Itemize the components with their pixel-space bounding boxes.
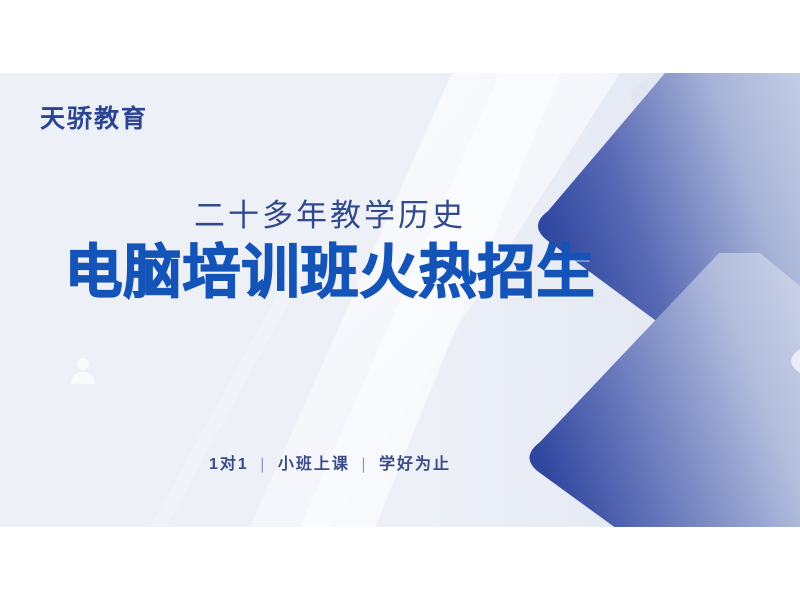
headline-block: 二十多年教学历史 电脑培训班火热招生: [0, 198, 660, 304]
tagline-separator-1: |: [255, 456, 271, 473]
main-headline: 电脑培训班火热招生: [0, 241, 660, 305]
brand-logo-text: 天骄教育: [40, 107, 148, 132]
tagline-item-2: 小班上课: [278, 456, 350, 473]
user-icon: [66, 353, 100, 387]
tagline-separator-2: |: [356, 456, 372, 473]
tagline-item-3: 学好为止: [379, 456, 451, 473]
subheadline: 二十多年教学历史: [0, 198, 660, 235]
tagline: 1对1 | 小班上课 | 学好为止: [0, 450, 660, 474]
promo-banner: 天骄教育 二十多年教学历史 电脑培训班火热招生 1对1 | 小班上课 | 学好为…: [0, 73, 800, 527]
screenshot-canvas: 天骄教育 二十多年教学历史 电脑培训班火热招生 1对1 | 小班上课 | 学好为…: [0, 0, 800, 600]
tagline-item-1: 1对1: [209, 456, 249, 473]
